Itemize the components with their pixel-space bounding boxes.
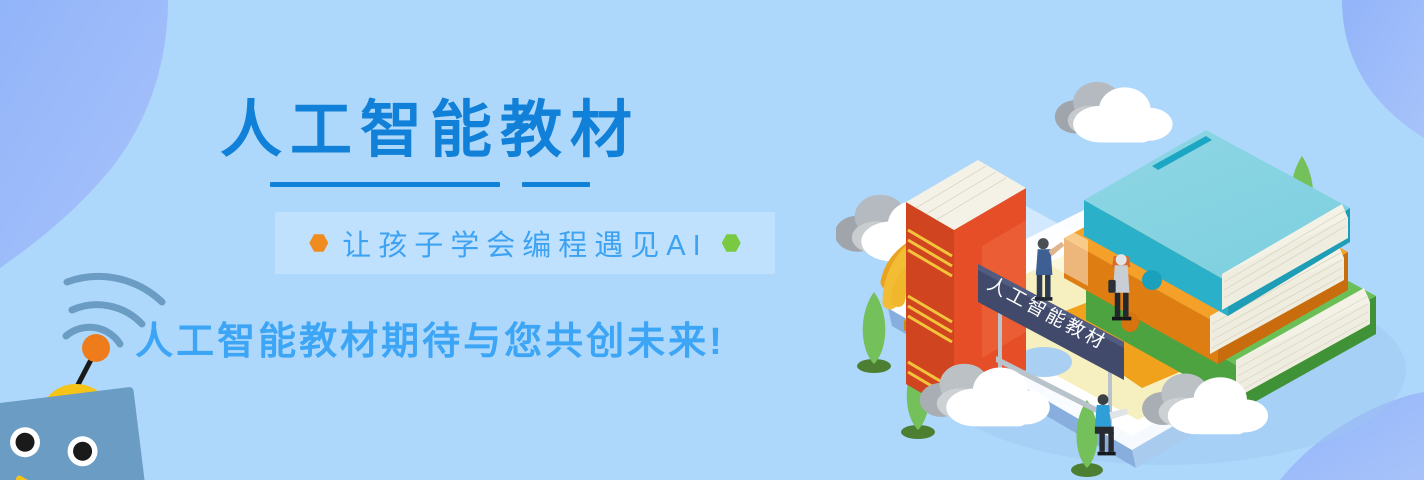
signal-waves-icon [66, 276, 162, 344]
green-hexagon-icon [722, 234, 741, 253]
ai-textbook-banner: 人工智能教材 让孩子学会编程遇见AI 人工智能教材期待与您共创未来! [0, 0, 1424, 480]
subtitle-band: 让孩子学会编程遇见AI [275, 212, 775, 274]
divider-segment-long [270, 182, 500, 187]
robot-mascot [0, 248, 192, 480]
page-title: 人工智能教材 [0, 96, 860, 166]
title-divider [0, 182, 860, 187]
antenna-ball-icon [82, 334, 110, 362]
isometric-education-illustration: 人工智能教材 [836, 70, 1424, 480]
orange-hexagon-icon [309, 234, 328, 253]
cloud-icon [1055, 82, 1173, 143]
book-teal-dot [1142, 270, 1162, 290]
divider-segment-short [522, 182, 590, 187]
subtitle-text: 让孩子学会编程遇见AI [342, 222, 707, 264]
